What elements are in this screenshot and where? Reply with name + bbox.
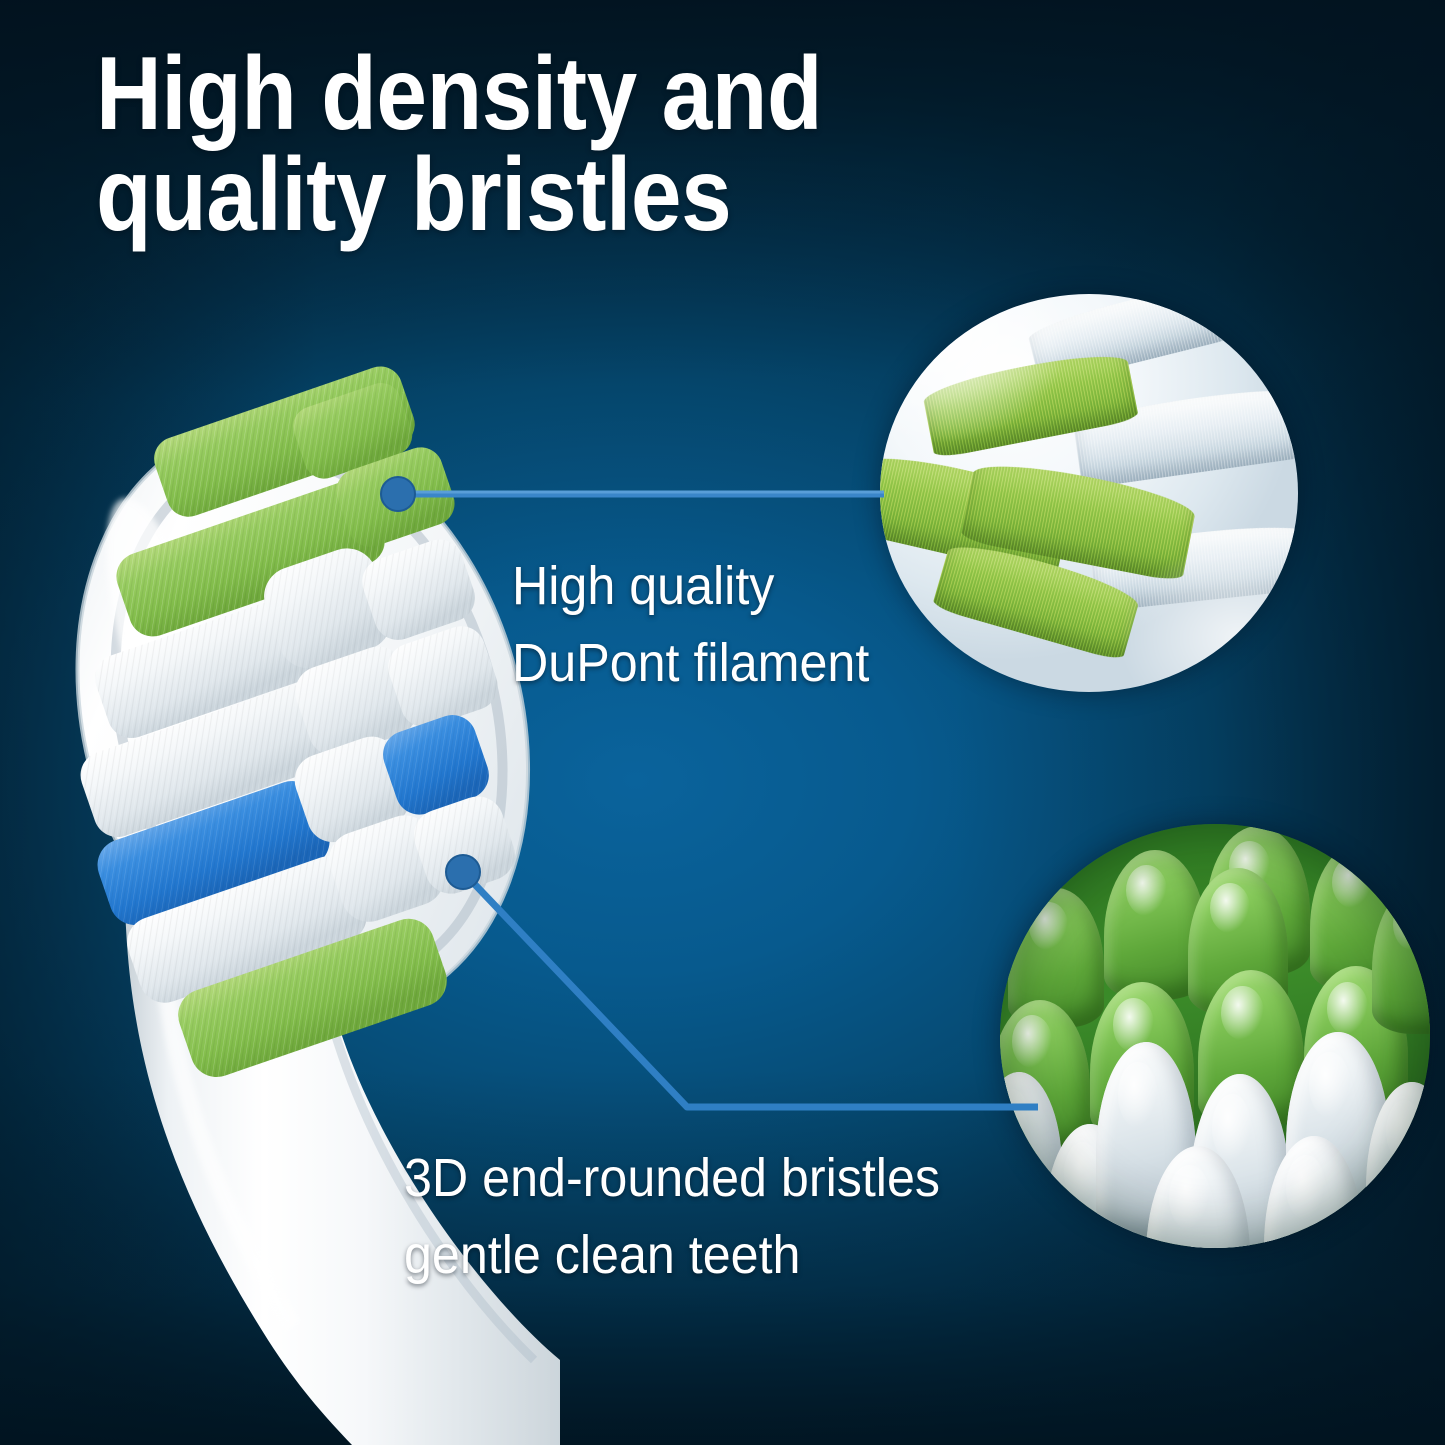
callout-rounded-label: 3D end-rounded bristles gentle clean tee… <box>404 1140 940 1293</box>
product-feature-image: High density and quality bristles High q… <box>0 0 1445 1445</box>
inset-filament-closeup <box>880 294 1298 692</box>
callout-filament-label: High quality DuPont filament <box>512 548 869 701</box>
bristle-tufts <box>74 361 522 1085</box>
inset-rounded-tips-closeup <box>1000 824 1430 1248</box>
page-title: High density and quality bristles <box>96 44 936 246</box>
callout-rounded-line-1: 3D end-rounded bristles <box>404 1140 940 1217</box>
callout-filament-line-1: High quality <box>512 548 869 625</box>
headline-line-2: quality bristles <box>96 145 936 246</box>
callout-filament-line-2: DuPont filament <box>512 625 869 702</box>
callout-rounded-line-2: gentle clean teeth <box>404 1217 940 1294</box>
headline-line-1: High density and <box>96 44 936 145</box>
